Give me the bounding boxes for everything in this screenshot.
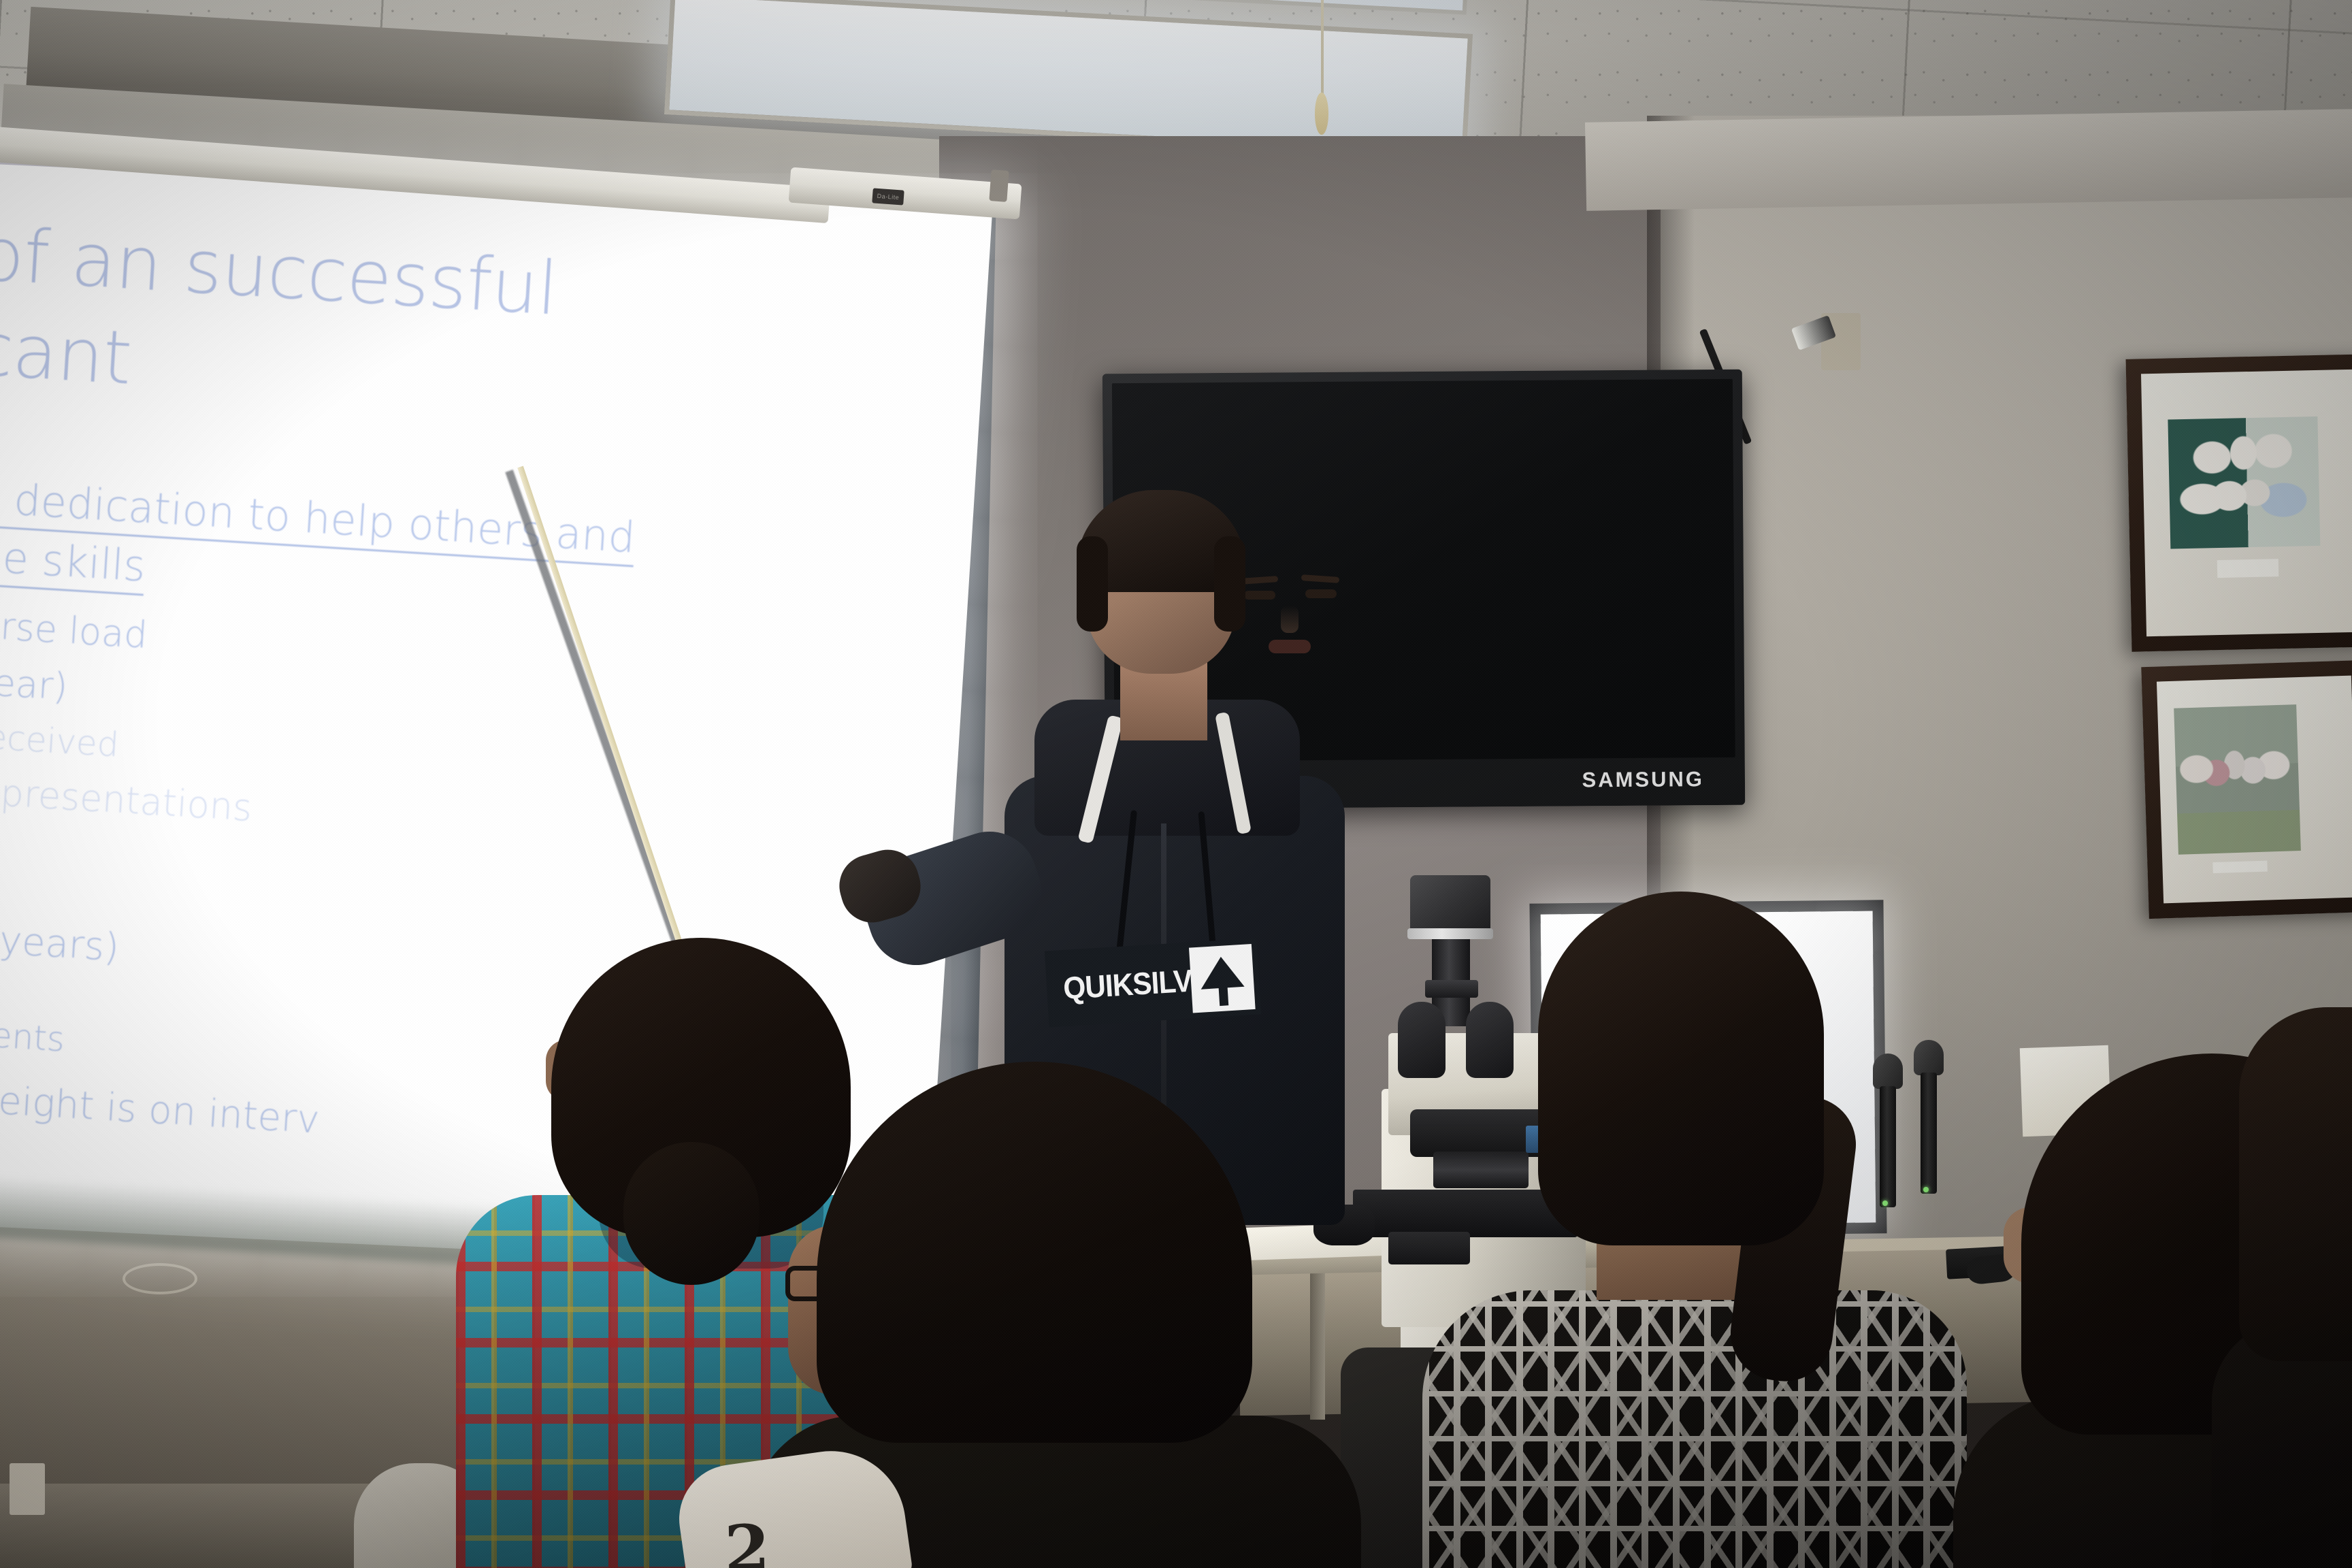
hair [817, 1062, 1252, 1443]
screen-mount-bracket [989, 169, 1009, 202]
nose [1281, 606, 1298, 633]
hair [2239, 1007, 2352, 1361]
audience-member-edge [2239, 1007, 2352, 1568]
classroom-photo-scene: ofile of an successful applicant eople w… [0, 0, 2352, 1568]
quiksilver-logo: QUIKSILVER [1045, 938, 1261, 1028]
ceiling-pull-cord[interactable] [1321, 0, 1324, 95]
eyepiece-left [1398, 1002, 1445, 1078]
photo-image [2174, 704, 2301, 855]
pull-cord-knob-icon[interactable] [1315, 93, 1328, 135]
slide-title: ofile of an successful applicant [0, 196, 757, 445]
tv-brand-label: SAMSUNG [1582, 767, 1704, 792]
aztec-top-shading [1422, 1290, 1967, 1568]
eye-left [1244, 591, 1275, 600]
screen-brand-label: Da-Lite [872, 188, 904, 205]
photo-caption-plaque [2217, 559, 2279, 578]
photo-image [2168, 416, 2320, 549]
mouth [1269, 640, 1311, 653]
photo-caption-plaque [2212, 861, 2267, 874]
framed-photo-top [2126, 354, 2352, 651]
audience-member-aztec [1450, 892, 1940, 1568]
power-socket[interactable] [10, 1463, 45, 1515]
eye-right [1305, 589, 1337, 598]
hair [1538, 892, 1824, 1245]
eyebrow-left [1240, 576, 1278, 585]
hair-bun [623, 1142, 759, 1285]
paper-marking: 2 [723, 1510, 770, 1568]
quiksilver-wave-icon [1189, 944, 1256, 1013]
presenter-hair-right [1214, 536, 1245, 632]
presenter-hair-left [1077, 536, 1108, 632]
ceiling-soffit [1585, 109, 2352, 211]
framed-photo-bottom [2141, 660, 2352, 919]
wall-marking [122, 1263, 197, 1294]
eyebrow-right [1301, 574, 1339, 583]
